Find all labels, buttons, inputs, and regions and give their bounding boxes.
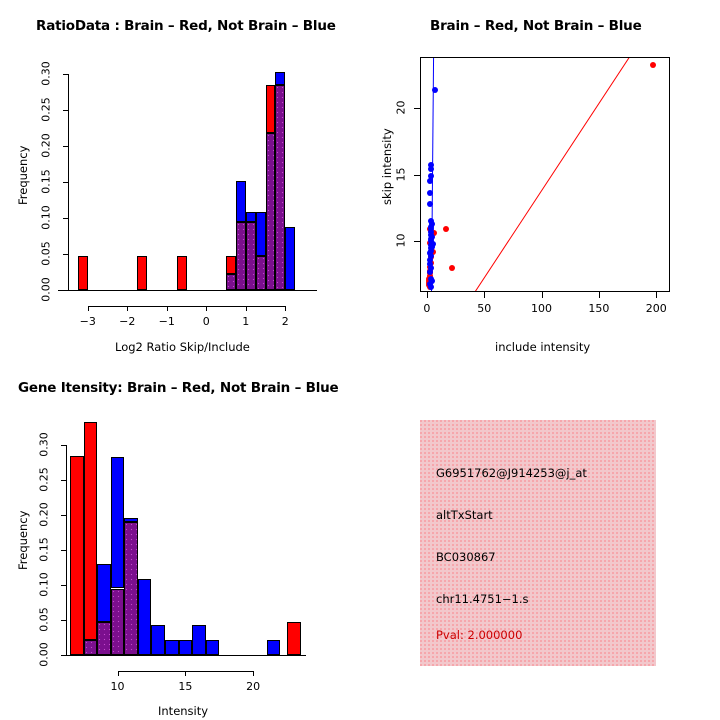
gene-y-tick — [61, 515, 66, 516]
gene-y-tick-label: 0.30 — [38, 431, 51, 459]
scatter-data-layer — [421, 58, 669, 291]
scatter-y-tick — [414, 108, 420, 109]
scatter-y-tick-label: 10 — [395, 230, 408, 252]
ratio-y-tick-label: 0.10 — [40, 204, 53, 232]
scatter-x-tick — [427, 292, 428, 298]
scatter-x-tick-label: 100 — [526, 302, 558, 315]
gene-y-tick-label: 0.10 — [38, 571, 51, 599]
gene-x-tick-label: 20 — [239, 680, 267, 693]
gene-x-tick — [185, 671, 186, 676]
ratio-bar-blue — [275, 72, 285, 86]
gene-baseline — [62, 655, 306, 656]
gene-bar-overlap — [84, 640, 98, 655]
ratio-y-tick-label: 0.30 — [40, 60, 53, 88]
accession-text: BC030867 — [436, 550, 496, 564]
gene-y-tick — [61, 445, 66, 446]
gene-bar-blue — [179, 640, 193, 655]
ratio-x-tick — [285, 306, 286, 311]
ratio-bar-red — [266, 85, 276, 133]
scatter-x-tick-label: 0 — [411, 302, 443, 315]
scatter-point-red — [449, 265, 455, 271]
scatter-x-tick-label: 200 — [640, 302, 672, 315]
ratio-bar-blue — [285, 227, 295, 290]
scatter-x-tick-label: 150 — [583, 302, 615, 315]
gene-y-tick — [61, 585, 66, 586]
ratio-y-tick — [63, 254, 68, 255]
ratio-y-tick-label: 0.15 — [40, 168, 53, 196]
ratio-histogram-plot-area: 0.000.050.100.150.200.250.30−3−2−1012 — [0, 0, 360, 360]
gene-x-tick-label: 15 — [171, 680, 199, 693]
ratio-bar-overlap — [236, 222, 246, 290]
event-type-text: altTxStart — [436, 508, 493, 522]
ratio-x-tick-label: −3 — [76, 315, 100, 328]
ratio-y-tick-label: 0.25 — [40, 96, 53, 124]
ratio-bar-red — [226, 256, 236, 274]
ratio-x-tick — [246, 306, 247, 311]
ratio-y-axis-line — [68, 74, 69, 290]
gene-bar-blue — [111, 457, 125, 589]
ratio-x-axis-line — [88, 306, 286, 307]
gene-y-tick — [61, 480, 66, 481]
pval-text: Pval: 2.000000 — [436, 628, 522, 642]
gene-y-tick-label: 0.05 — [38, 606, 51, 634]
gene-bar-red — [84, 422, 98, 640]
ratio-bar-blue — [236, 181, 246, 222]
gene-intensity-histogram-plot-area: 0.000.050.100.150.200.250.30101520 — [0, 360, 360, 720]
gene-bar-overlap — [111, 589, 125, 656]
scatter-point-blue — [428, 284, 434, 290]
gene-y-tick — [61, 550, 66, 551]
gene-x-tick-label: 10 — [104, 680, 132, 693]
probeset-id-text: G6951762@J914253@j_at — [436, 466, 587, 480]
gene-bar-red — [287, 622, 301, 655]
scatter-y-tick — [414, 241, 420, 242]
gene-y-tick — [61, 655, 66, 656]
scatter-fitline-red — [475, 58, 629, 291]
scatter-x-tick — [599, 292, 600, 298]
gene-bar-overlap — [97, 622, 111, 655]
gene-y-axis-line — [66, 445, 67, 655]
gene-bar-blue — [151, 625, 165, 655]
gene-bar-blue — [267, 640, 281, 655]
scatter-x-tick — [484, 292, 485, 298]
ratio-x-tick — [167, 306, 168, 311]
scatter-x-tick — [542, 292, 543, 298]
ratio-bar-overlap — [226, 274, 236, 290]
ratio-bar-red — [78, 256, 88, 290]
ratio-x-tick-label: 2 — [273, 315, 297, 328]
ratio-y-tick — [63, 110, 68, 111]
ratio-y-tick-label: 0.00 — [40, 276, 53, 304]
gene-x-tick — [118, 671, 119, 676]
ratio-bar-overlap — [275, 85, 285, 290]
ratio-x-tick — [88, 306, 89, 311]
gene-info-panel: G6951762@J914253@j_at altTxStart BC03086… — [420, 420, 656, 666]
gene-bar-blue — [192, 625, 206, 655]
ratio-y-tick-label: 0.05 — [40, 240, 53, 268]
scatter-point-red — [650, 62, 656, 68]
gene-y-tick-label: 0.00 — [38, 641, 51, 669]
ratio-bar-blue — [246, 212, 256, 222]
ratio-x-tick — [127, 306, 128, 311]
ratio-bar-overlap — [246, 222, 256, 290]
ratio-x-tick-label: −1 — [155, 315, 179, 328]
gene-bar-red — [70, 456, 84, 656]
locus-text: chr11.4751−1.s — [436, 592, 529, 606]
gene-bar-blue — [124, 518, 138, 522]
ratio-baseline — [58, 290, 317, 291]
scatter-x-tick — [656, 292, 657, 298]
ratio-bar-overlap — [266, 133, 276, 290]
gene-x-tick — [253, 671, 254, 676]
scatter-y-tick-label: 15 — [395, 163, 408, 185]
gene-y-tick — [61, 620, 66, 621]
ratio-histogram-panel: RatioData : Brain – Red, Not Brain – Blu… — [0, 0, 360, 360]
ratio-y-tick — [63, 146, 68, 147]
gene-bar-overlap — [124, 522, 138, 655]
gene-bar-blue — [138, 579, 152, 655]
ratio-y-tick — [63, 74, 68, 75]
ratio-bar-red — [137, 256, 147, 290]
gene-bar-blue — [165, 640, 179, 655]
gene-y-tick-label: 0.15 — [38, 536, 51, 564]
gene-y-tick-label: 0.20 — [38, 501, 51, 529]
scatter-point-red — [443, 226, 449, 232]
gene-bar-blue — [97, 564, 111, 622]
ratio-x-tick-label: 1 — [234, 315, 258, 328]
scatter-point-blue — [432, 87, 438, 93]
scatter-x-tick-label: 50 — [468, 302, 500, 315]
intensity-scatter-plot-area: 101520050100150200 — [360, 0, 720, 360]
ratio-y-tick — [63, 290, 68, 291]
ratio-bar-overlap — [256, 256, 266, 290]
ratio-x-tick-label: 0 — [194, 315, 218, 328]
scatter-y-tick-label: 20 — [395, 96, 408, 118]
gene-y-tick-label: 0.25 — [38, 466, 51, 494]
ratio-bar-red — [177, 256, 187, 290]
ratio-bar-blue — [256, 212, 266, 257]
intensity-scatter-panel: Brain – Red, Not Brain – Blue skip inten… — [360, 0, 720, 360]
gene-bar-blue — [206, 640, 220, 655]
ratio-x-tick — [206, 306, 207, 311]
gene-intensity-histogram-panel: Gene Itensity: Brain – Red, Not Brain – … — [0, 360, 360, 720]
scatter-y-tick — [414, 175, 420, 176]
ratio-y-tick-label: 0.20 — [40, 132, 53, 160]
ratio-y-tick — [63, 218, 68, 219]
ratio-y-tick — [63, 182, 68, 183]
ratio-x-tick-label: −2 — [115, 315, 139, 328]
